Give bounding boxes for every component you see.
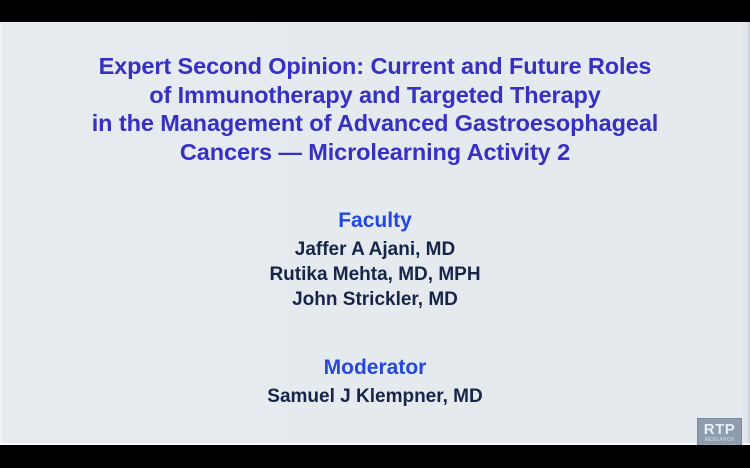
moderator-heading: Moderator — [0, 355, 750, 381]
title-line-3: in the Management of Advanced Gastroesop… — [0, 109, 750, 138]
presentation-slide: Expert Second Opinion: Current and Futur… — [0, 22, 750, 445]
letterbox-bar-bottom — [0, 445, 750, 468]
faculty-member-1: Jaffer A Ajani, MD — [0, 237, 750, 262]
faculty-heading: Faculty — [0, 208, 750, 234]
title-line-2: of Immunotherapy and Targeted Therapy — [0, 81, 750, 110]
title-line-1: Expert Second Opinion: Current and Futur… — [0, 52, 750, 81]
faculty-member-2: Rutika Mehta, MD, MPH — [0, 262, 750, 287]
rtp-logo: RTP RESEARCH TO PRACTICE — [697, 418, 742, 445]
rtp-logo-mark: RTP — [704, 422, 736, 437]
moderator-section: Moderator Samuel J Klempner, MD — [0, 355, 750, 409]
letterbox-bar-top — [0, 0, 750, 22]
title-line-4: Cancers — Microlearning Activity 2 — [0, 138, 750, 167]
slide-title: Expert Second Opinion: Current and Futur… — [0, 52, 750, 166]
video-player-frame: Expert Second Opinion: Current and Futur… — [0, 0, 750, 468]
faculty-member-3: John Strickler, MD — [0, 287, 750, 312]
moderator-member-1: Samuel J Klempner, MD — [0, 384, 750, 409]
faculty-section: Faculty Jaffer A Ajani, MD Rutika Mehta,… — [0, 208, 750, 312]
